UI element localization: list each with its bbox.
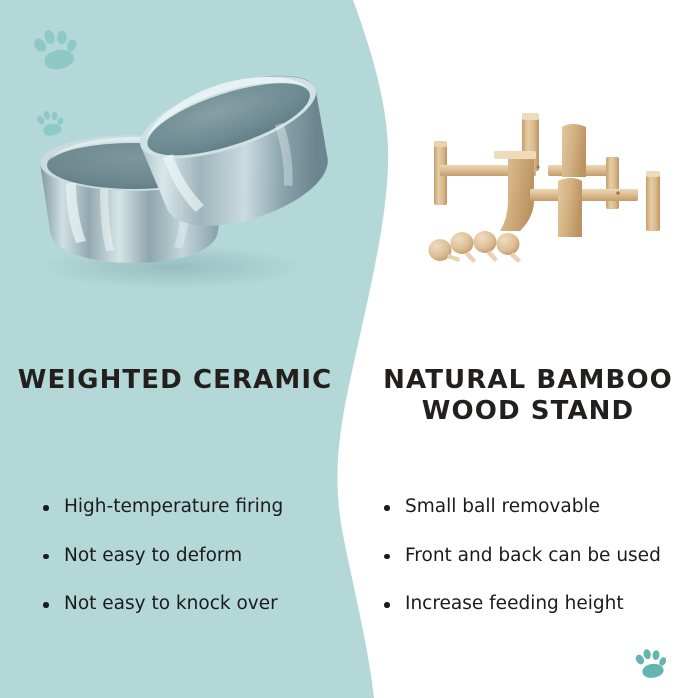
feature-text: Increase feeding height	[405, 595, 624, 614]
right-panel-heading-line2: WOOD STAND	[383, 396, 673, 427]
feature-text: Front and back can be used	[405, 547, 661, 566]
right-panel-feature-list: Small ball removable Front and back can …	[383, 498, 679, 614]
right-panel-heading: NATURAL BAMBOO WOOD STAND	[383, 365, 673, 426]
right-panel-heading-line1: NATURAL BAMBOO	[383, 365, 673, 395]
ceramic-bowls-image	[22, 55, 342, 295]
feature-text: Small ball removable	[405, 498, 600, 517]
feature-text: High-temperature firing	[64, 498, 283, 517]
list-item: Small ball removable	[383, 498, 679, 517]
removable-wooden-balls	[429, 231, 522, 263]
paw-print-bottom-right-icon	[634, 648, 668, 684]
left-panel-heading: WEIGHTED CERAMIC	[10, 365, 340, 396]
bamboo-wood-stand-image	[410, 105, 675, 270]
list-item: Not easy to knock over	[42, 595, 342, 614]
left-panel-feature-list: High-temperature firing Not easy to defo…	[42, 498, 342, 614]
list-item: Increase feeding height	[383, 595, 679, 614]
list-item: Front and back can be used	[383, 547, 679, 566]
list-item: High-temperature firing	[42, 498, 342, 517]
product-infographic: WEIGHTED CERAMIC NATURAL BAMBOO WOOD STA…	[0, 0, 679, 698]
feature-text: Not easy to deform	[64, 547, 242, 566]
feature-text: Not easy to knock over	[64, 595, 278, 614]
list-item: Not easy to deform	[42, 547, 342, 566]
